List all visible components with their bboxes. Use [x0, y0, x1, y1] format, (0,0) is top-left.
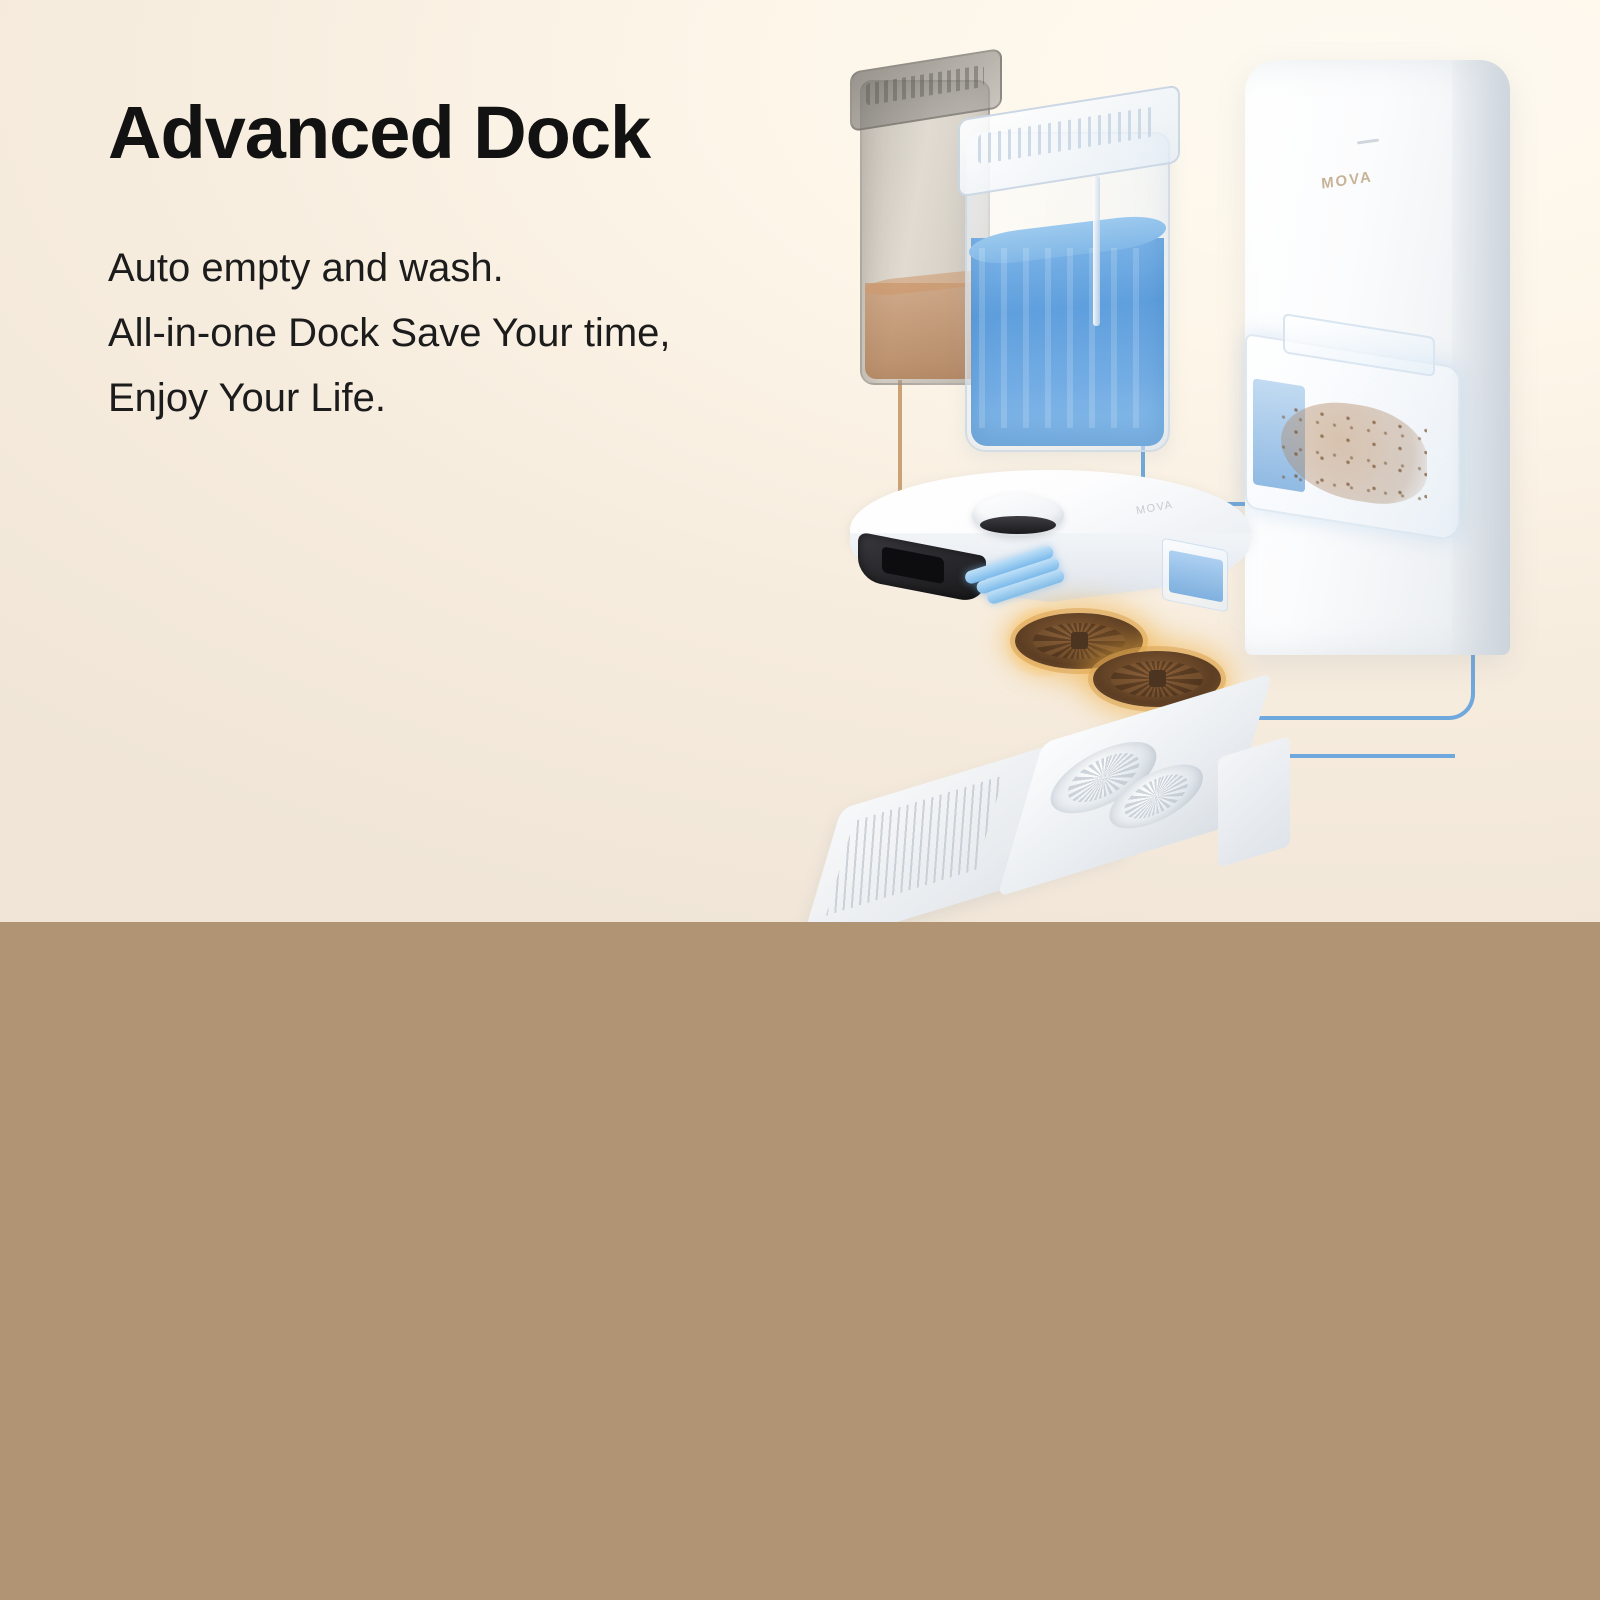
hero-subtitle: Auto empty and wash. All-in-one Dock Sav…	[108, 236, 908, 430]
hero-section: Advanced Dock Auto empty and wash. All-i…	[0, 0, 1600, 922]
robot-water-tank	[1162, 538, 1228, 613]
dock-vent-icon	[1357, 138, 1379, 144]
brand-logo: MOVA	[1321, 168, 1374, 192]
base-rear-rail	[1218, 736, 1290, 868]
exploded-product-illustration: MOVA MOVA	[790, 40, 1580, 900]
lidar-turret-icon	[972, 494, 1064, 536]
dust-bag-compartment	[1245, 333, 1460, 542]
collected-dust	[1281, 393, 1427, 512]
robot-vacuum: MOVA	[850, 470, 1250, 620]
clean-water-liquid	[971, 238, 1164, 446]
subtitle-line-3: Enjoy Your Life.	[108, 366, 908, 431]
product-infographic: Advanced Dock Auto empty and wash. All-i…	[0, 0, 1600, 1600]
detachable-base-tray	[820, 705, 1290, 895]
water-intake-straw-icon	[1093, 176, 1100, 326]
subtitle-line-2: All-in-one Dock Save Your time,	[108, 301, 908, 366]
feature-grid-section: Hot water self-washing Hot air self-dryi…	[0, 922, 1600, 1600]
subtitle-line-1: Auto empty and wash.	[108, 236, 908, 301]
dock-tower-side-panel	[1452, 60, 1510, 655]
page-title: Advanced Dock	[108, 96, 650, 170]
